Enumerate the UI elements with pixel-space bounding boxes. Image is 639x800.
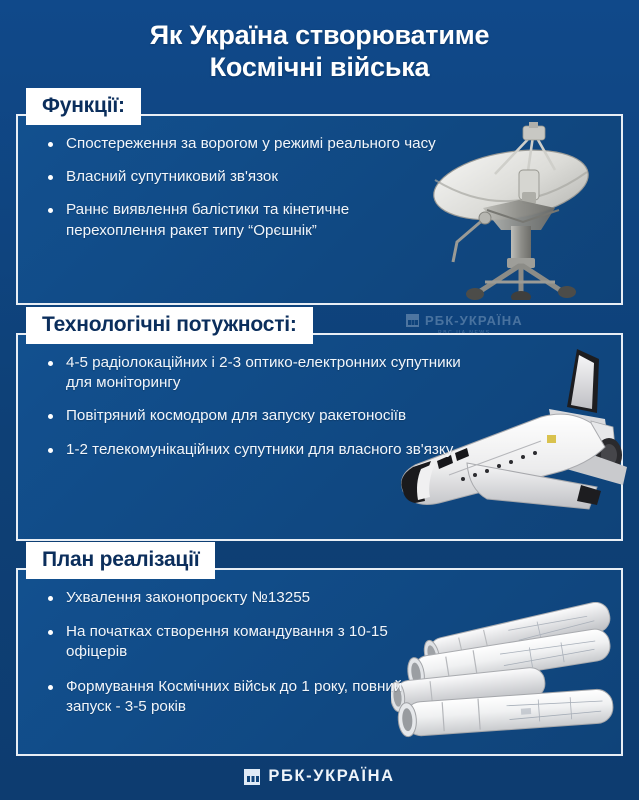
list-item: 4-5 радіолокаційних і 2-3 оптико-електро… <box>46 353 476 393</box>
watermark: РБК-УКРАЇНА RBC.UA NEWS <box>406 313 523 336</box>
list-item: Власний супутниковий зв'язок <box>46 167 446 187</box>
bullet-list-plan: Ухвалення законопроєкту №13255 На початк… <box>46 588 446 717</box>
section-card-capabilities: Технологічні потужності: <box>16 333 623 541</box>
rbc-logo-icon <box>244 769 260 785</box>
section-label-functions: Функції: <box>26 88 141 125</box>
bullet-list-capabilities: 4-5 радіолокаційних і 2-3 оптико-електро… <box>46 353 476 460</box>
list-item: 1-2 телекомунікаційних супутники для вла… <box>46 440 476 460</box>
footer-brand-text: РБК-УКРАЇНА <box>268 767 394 786</box>
footer-logo: РБК-УКРАЇНА <box>0 767 639 786</box>
watermark-subtext: RBC.UA NEWS <box>438 330 491 336</box>
list-item: Раннє виявлення балістики та кінетичне п… <box>46 200 446 240</box>
watermark-text: РБК-УКРАЇНА <box>425 313 523 328</box>
page-title: Як Україна створюватиме Космічні війська <box>0 20 639 84</box>
section-label-capabilities: Технологічні потужності: <box>26 307 313 344</box>
satellite-dish-icon <box>423 122 613 300</box>
list-item: Формування Космічних військ до 1 року, п… <box>46 677 446 717</box>
bullet-list-functions: Спостереження за ворогом у режимі реальн… <box>46 134 446 241</box>
title-line-1: Як Україна створюватиме <box>0 20 639 52</box>
title-line-2: Космічні війська <box>0 52 639 84</box>
list-item: Повітряний космодром для запуску ракетон… <box>46 406 476 426</box>
list-item: Спостереження за ворогом у режимі реальн… <box>46 134 446 154</box>
rbc-logo-icon <box>406 314 419 327</box>
list-item: Ухвалення законопроєкту №13255 <box>46 588 446 608</box>
section-card-functions: Функції: <box>16 114 623 305</box>
section-label-plan: План реалізації <box>26 542 215 579</box>
list-item: На початках створення командування з 10-… <box>46 622 446 662</box>
infographic-poster: Як Україна створюватиме Космічні війська… <box>0 0 639 800</box>
section-card-plan: План реалізації <box>16 568 623 756</box>
